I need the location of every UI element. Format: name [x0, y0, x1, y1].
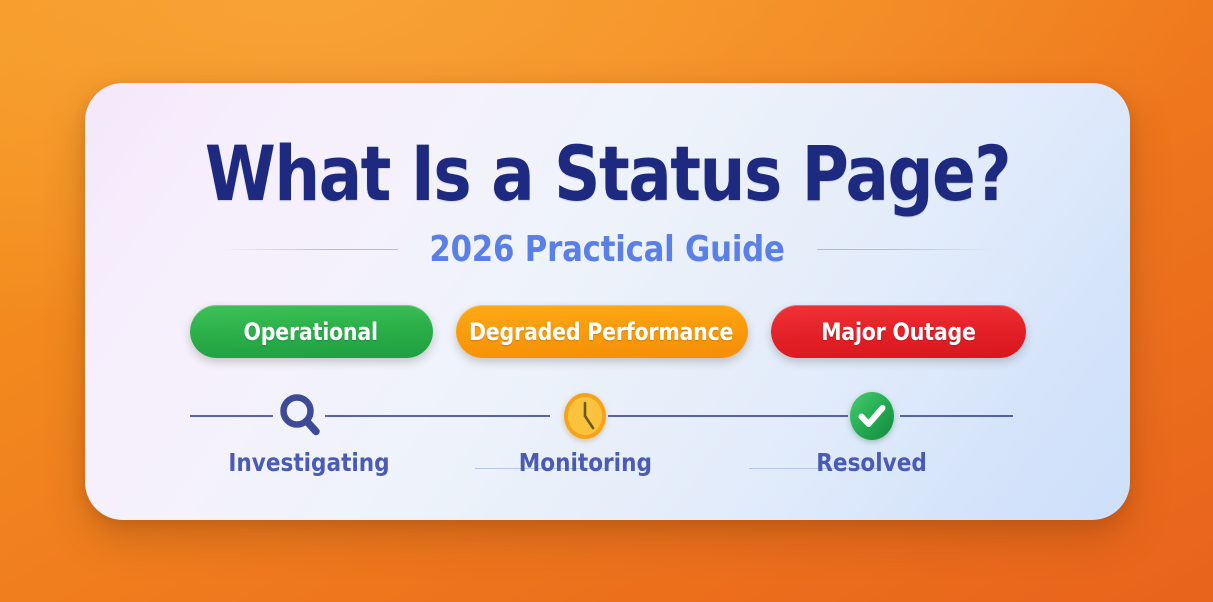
check-circle-icon	[797, 390, 947, 442]
timeline-step-monitoring-label: Monitoring	[518, 448, 651, 477]
timeline-step-resolved[interactable]: Resolved	[797, 390, 947, 477]
status-badge-operational-label: Operational	[244, 318, 378, 346]
status-badge-degraded[interactable]: Degraded Performance	[456, 305, 748, 358]
status-badge-major-outage[interactable]: Major Outage	[771, 305, 1026, 358]
magnifier-icon	[225, 390, 375, 442]
timeline-step-resolved-label: Resolved	[817, 448, 928, 477]
subtitle-rule-right	[817, 249, 992, 250]
timeline-step-investigating[interactable]: Investigating	[225, 390, 375, 477]
timeline-step-investigating-label: Investigating	[228, 448, 389, 477]
status-page-card: What Is a Status Page? 2026 Practical Gu…	[85, 83, 1130, 520]
page-title: What Is a Status Page?	[116, 136, 1098, 212]
clock-icon	[510, 390, 660, 442]
incident-timeline: Investigating Monitoring	[85, 390, 1130, 500]
status-badge-degraded-label: Degraded Performance	[469, 318, 733, 346]
page-subtitle: 2026 Practical Guide	[430, 229, 785, 270]
status-badge-major-outage-label: Major Outage	[821, 318, 976, 346]
subtitle-rule-left	[223, 249, 398, 250]
status-pill-group: Operational Degraded Performance Major O…	[85, 305, 1130, 358]
status-badge-operational[interactable]: Operational	[190, 305, 433, 358]
subtitle-row: 2026 Practical Guide	[85, 229, 1130, 270]
timeline-step-monitoring[interactable]: Monitoring	[510, 390, 660, 477]
